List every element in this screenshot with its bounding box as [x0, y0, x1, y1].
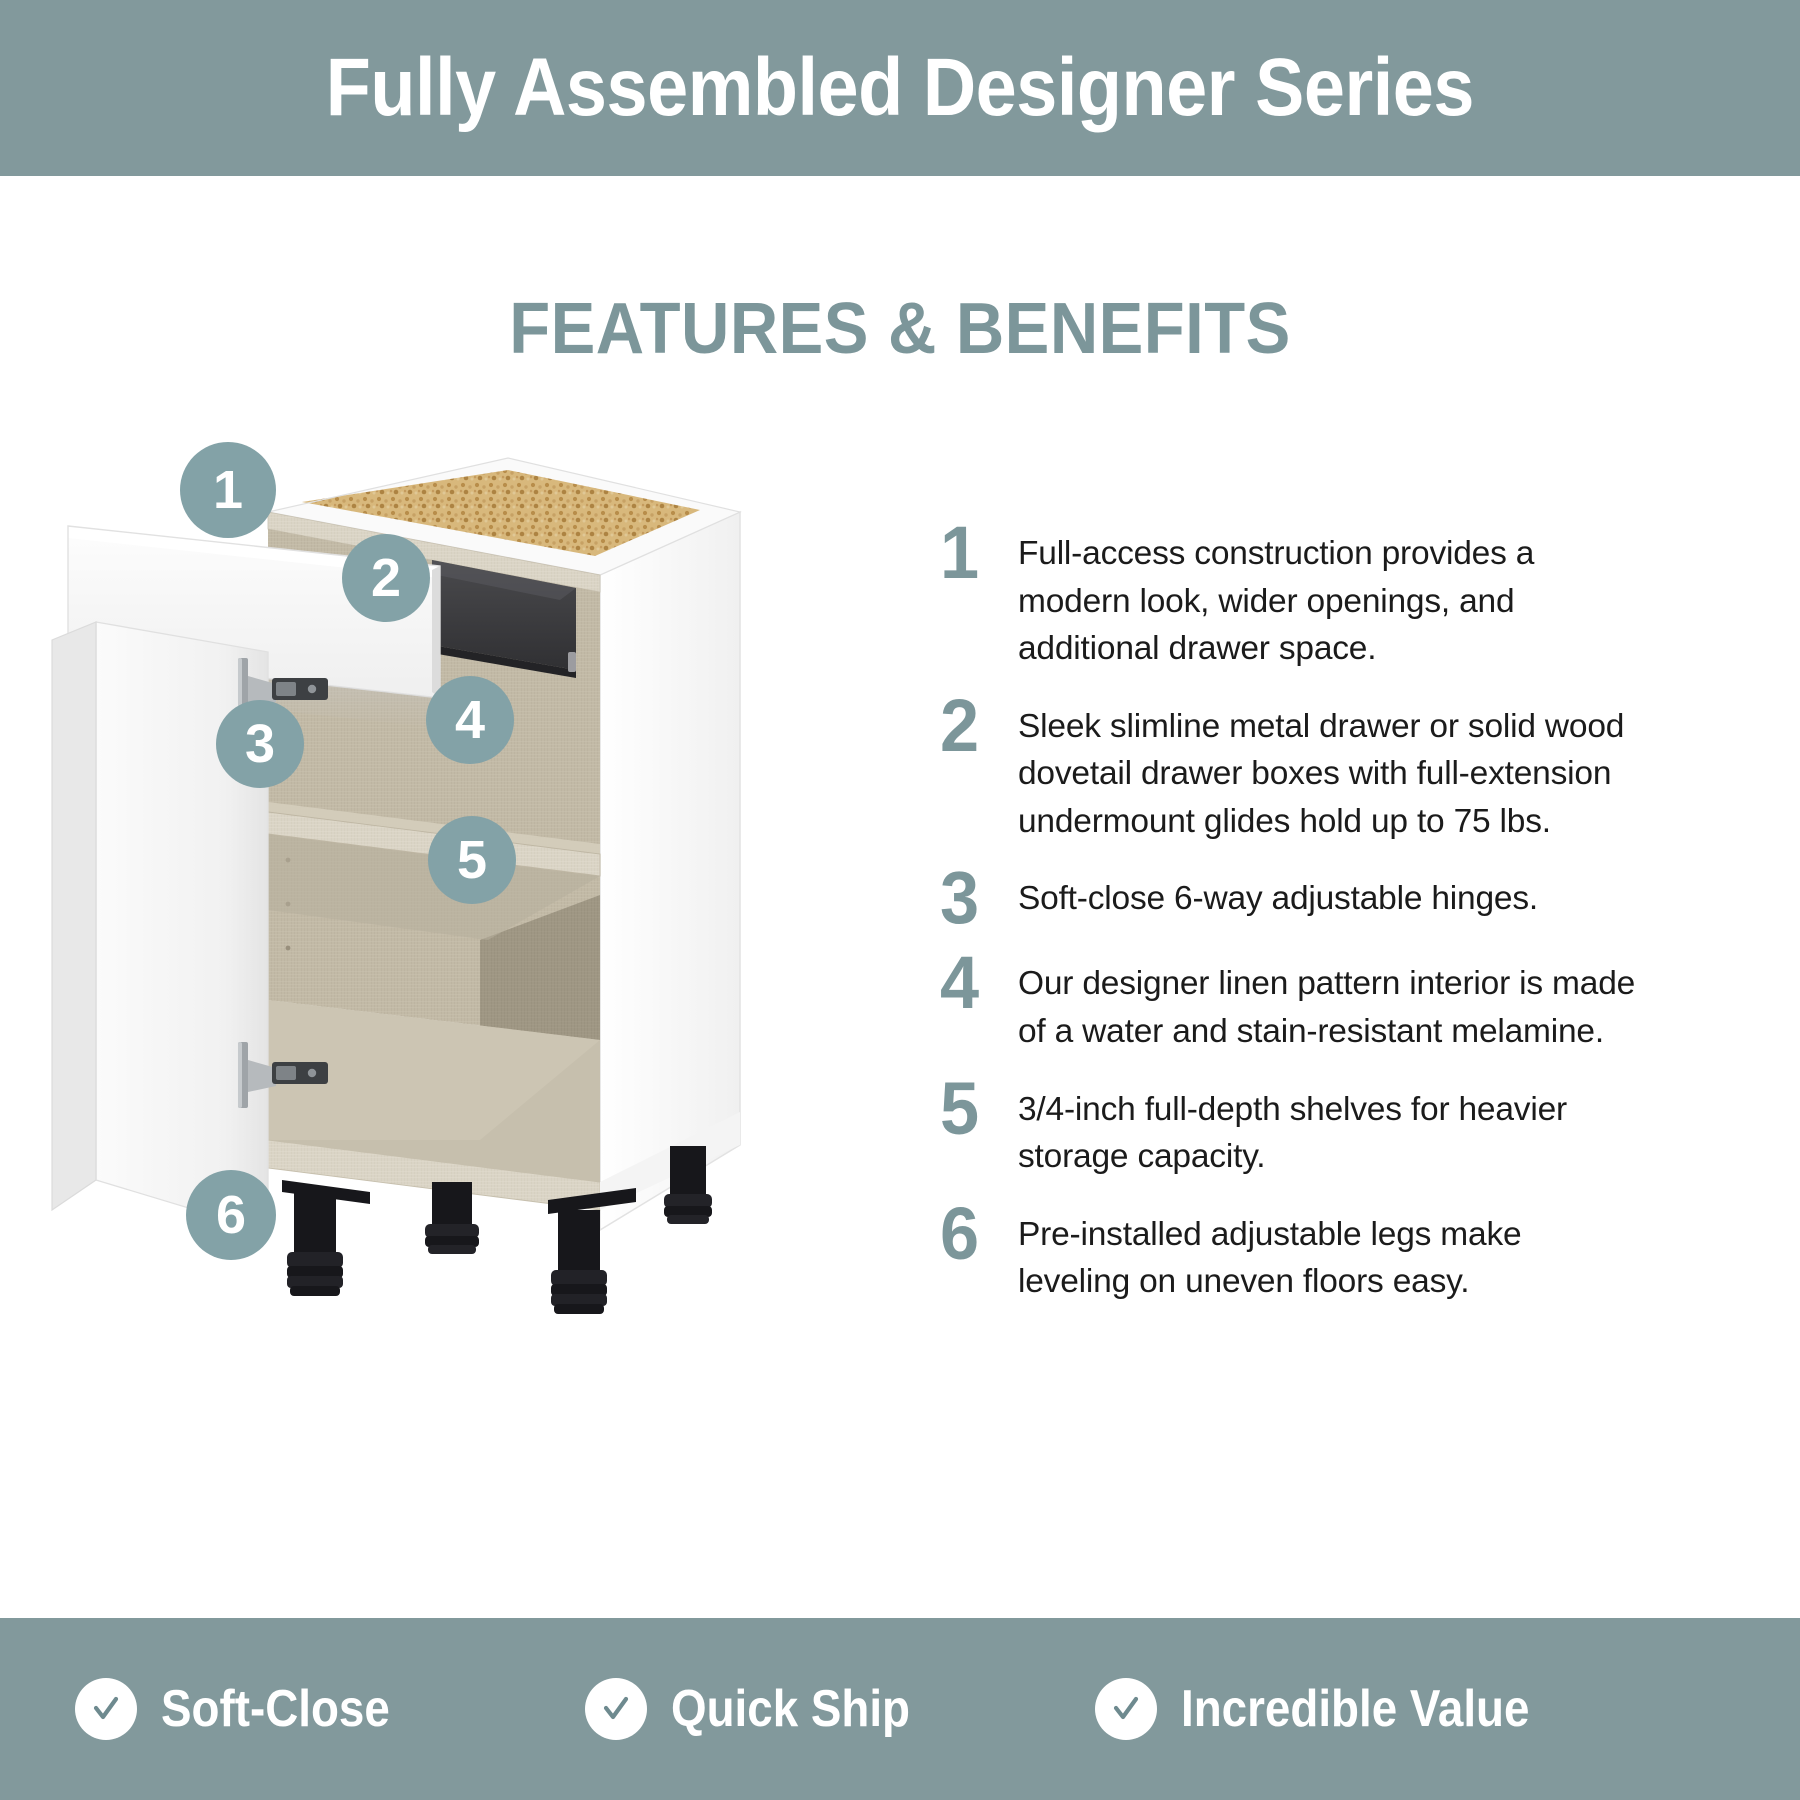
callout-badge-4: 4 — [426, 676, 514, 764]
feature-number-1: 1 — [940, 520, 1014, 585]
feature-number-3: 3 — [940, 865, 1014, 930]
feature-text-5: 3/4-inch full-depth shelves for heavier … — [1018, 1076, 1640, 1181]
footer-item-soft-close: Soft-Close — [75, 1678, 421, 1740]
check-circle-icon — [585, 1678, 647, 1740]
adjustable-leg-front-left — [282, 1180, 370, 1296]
footer-label-soft-close: Soft-Close — [161, 1679, 390, 1739]
callout-badge-5: 5 — [428, 816, 516, 904]
section-heading: FEATURES & BENEFITS — [63, 288, 1737, 370]
feature-item-1: 1 Full-access construction provides a mo… — [940, 520, 1640, 673]
cabinet-side-panel — [600, 512, 740, 1230]
footer-label-quick-ship: Quick Ship — [671, 1679, 910, 1739]
header-bar: Fully Assembled Designer Series — [0, 0, 1800, 176]
check-circle-icon — [75, 1678, 137, 1740]
features-list: 1 Full-access construction provides a mo… — [940, 520, 1640, 1326]
check-circle-icon — [1095, 1678, 1157, 1740]
feature-number-4: 4 — [940, 950, 1014, 1015]
footer-bar: Soft-Close Quick Ship Incredible Value — [0, 1618, 1800, 1800]
feature-text-6: Pre-installed adjustable legs make level… — [1018, 1201, 1640, 1306]
page-title: Fully Assembled Designer Series — [326, 41, 1474, 135]
feature-item-5: 5 3/4-inch full-depth shelves for heavie… — [940, 1076, 1640, 1181]
callout-badge-6: 6 — [186, 1170, 276, 1260]
feature-number-6: 6 — [940, 1201, 1014, 1266]
feature-item-3: 3 Soft-close 6-way adjustable hinges. — [940, 865, 1640, 930]
adjustable-leg-rear-center — [425, 1182, 479, 1254]
callout-badge-1: 1 — [180, 442, 276, 538]
callout-badge-2: 2 — [342, 534, 430, 622]
footer-item-quick-ship: Quick Ship — [585, 1678, 943, 1740]
feature-item-6: 6 Pre-installed adjustable legs make lev… — [940, 1201, 1640, 1306]
feature-text-4: Our designer linen pattern interior is m… — [1018, 950, 1640, 1055]
feature-text-3: Soft-close 6-way adjustable hinges. — [1018, 865, 1640, 923]
feature-text-2: Sleek slimline metal drawer or solid woo… — [1018, 693, 1640, 846]
callout-badge-3: 3 — [216, 700, 304, 788]
footer-item-incredible-value: Incredible Value — [1095, 1678, 1577, 1740]
adjustable-leg-rear-right — [664, 1146, 712, 1224]
feature-number-2: 2 — [940, 693, 1014, 758]
feature-text-1: Full-access construction provides a mode… — [1018, 520, 1640, 673]
feature-item-2: 2 Sleek slimline metal drawer or solid w… — [940, 693, 1640, 846]
footer-label-incredible-value: Incredible Value — [1181, 1679, 1529, 1739]
feature-number-5: 5 — [940, 1076, 1014, 1141]
feature-item-4: 4 Our designer linen pattern interior is… — [940, 950, 1640, 1055]
